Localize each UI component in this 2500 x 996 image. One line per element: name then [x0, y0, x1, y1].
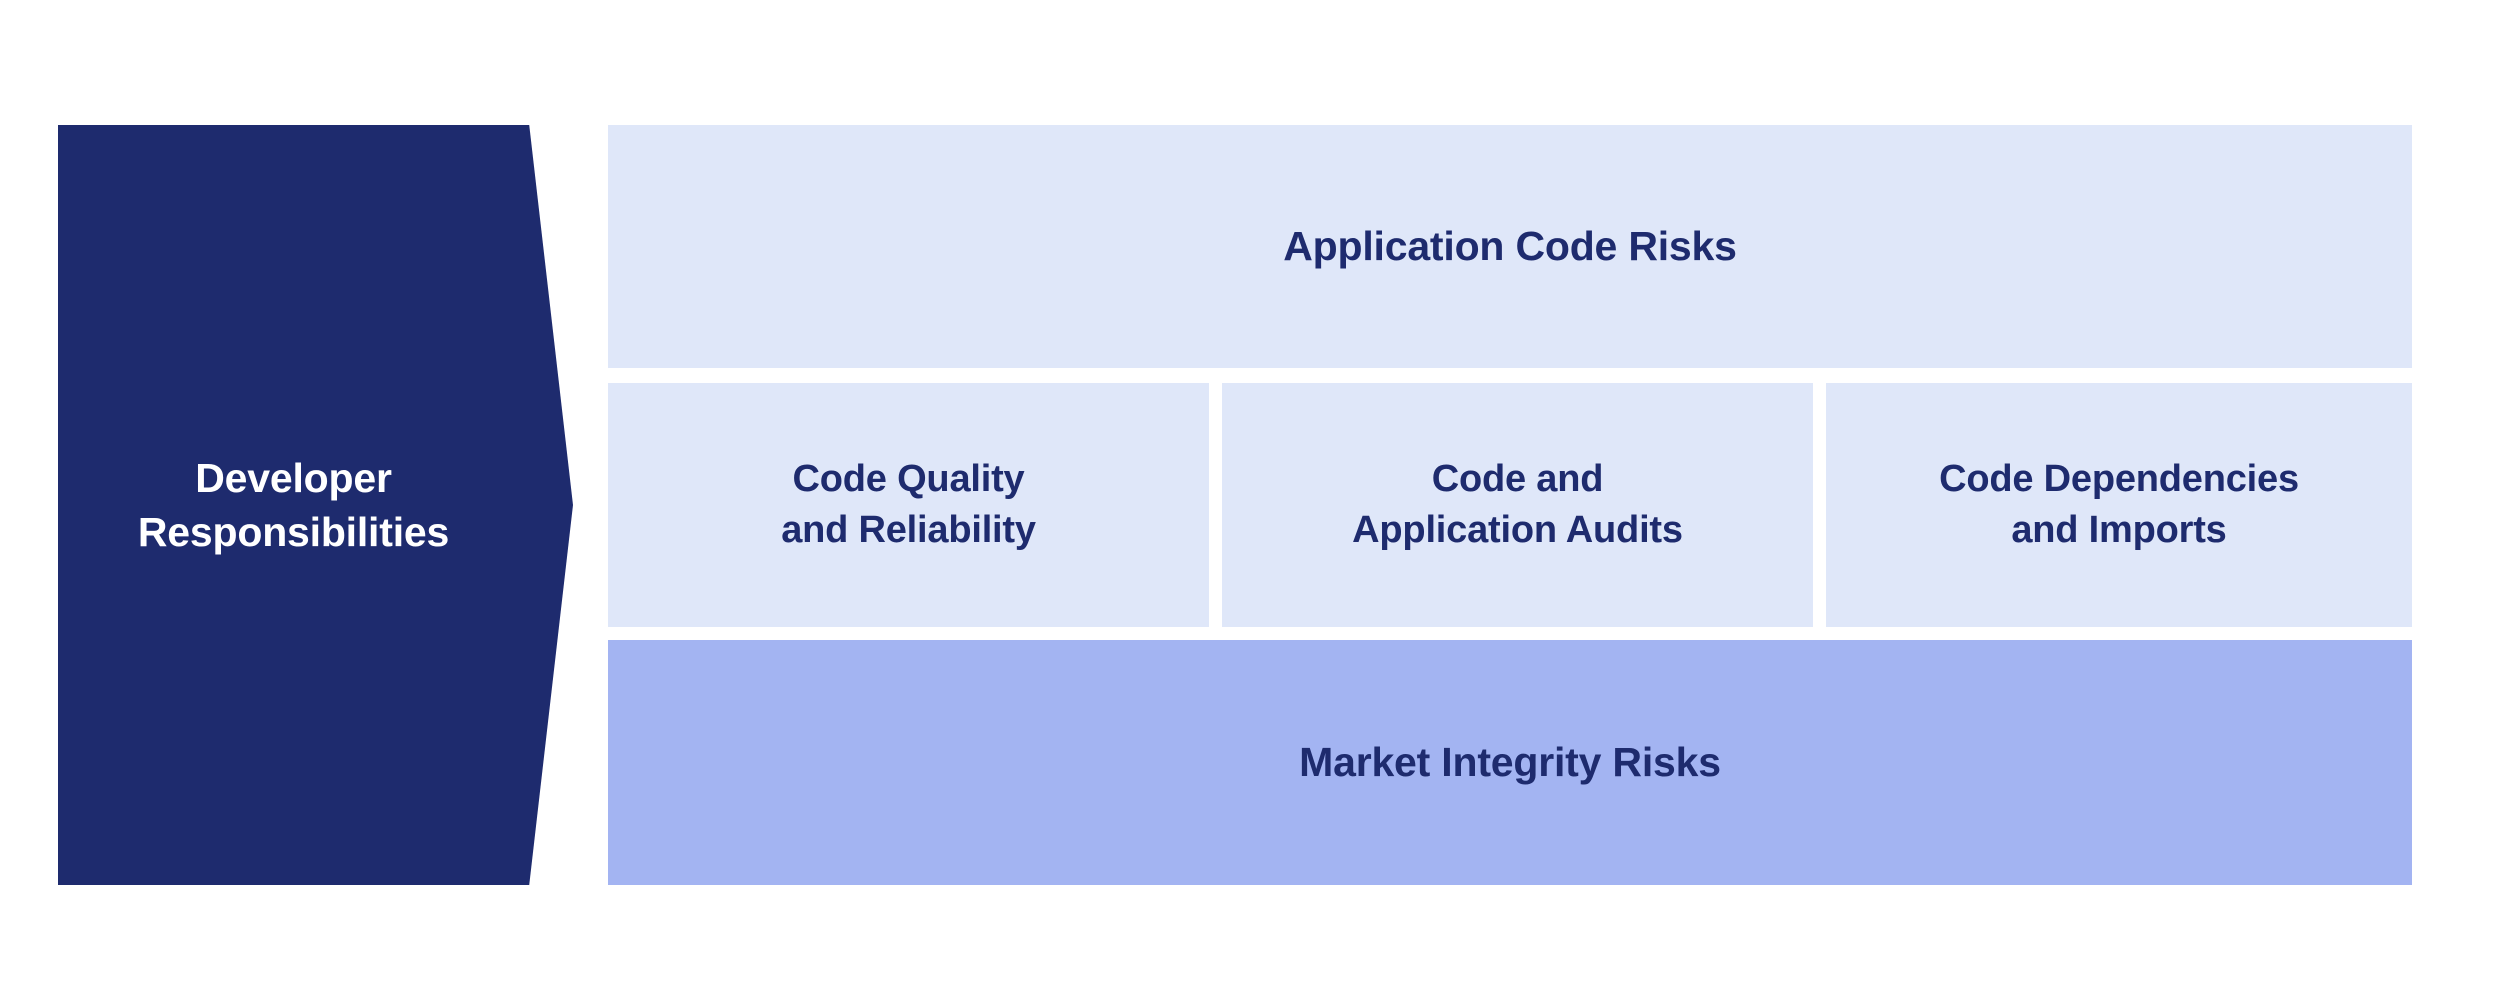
application-code-risks-band: Application Code Risks [608, 125, 2412, 368]
market-integrity-risks-label: Market Integrity Risks [1299, 735, 1721, 789]
diagram-canvas: Developer Responsibilities Application C… [0, 0, 2500, 996]
code-dependencies-and-imports-label: Code Dependencies and Imports [1939, 454, 2299, 556]
code-quality-and-reliability-card: Code Quality and Reliability [608, 383, 1209, 627]
application-code-risks-label: Application Code Risks [1283, 219, 1737, 273]
risk-categories-stack: Application Code Risks Code Quality and … [608, 125, 2412, 885]
developer-responsibilities-label: Developer Responsibilities [138, 451, 493, 559]
market-integrity-risks-band: Market Integrity Risks [608, 640, 2412, 885]
developer-responsibilities-arrow: Developer Responsibilities [58, 125, 573, 885]
code-quality-and-reliability-label: Code Quality and Reliability [781, 454, 1036, 556]
code-dependencies-and-imports-card: Code Dependencies and Imports [1826, 383, 2412, 627]
code-and-application-audits-card: Code and Application Audits [1222, 383, 1813, 627]
code-and-application-audits-label: Code and Application Audits [1352, 454, 1683, 556]
code-risk-cards-row: Code Quality and Reliability Code and Ap… [608, 383, 2412, 627]
